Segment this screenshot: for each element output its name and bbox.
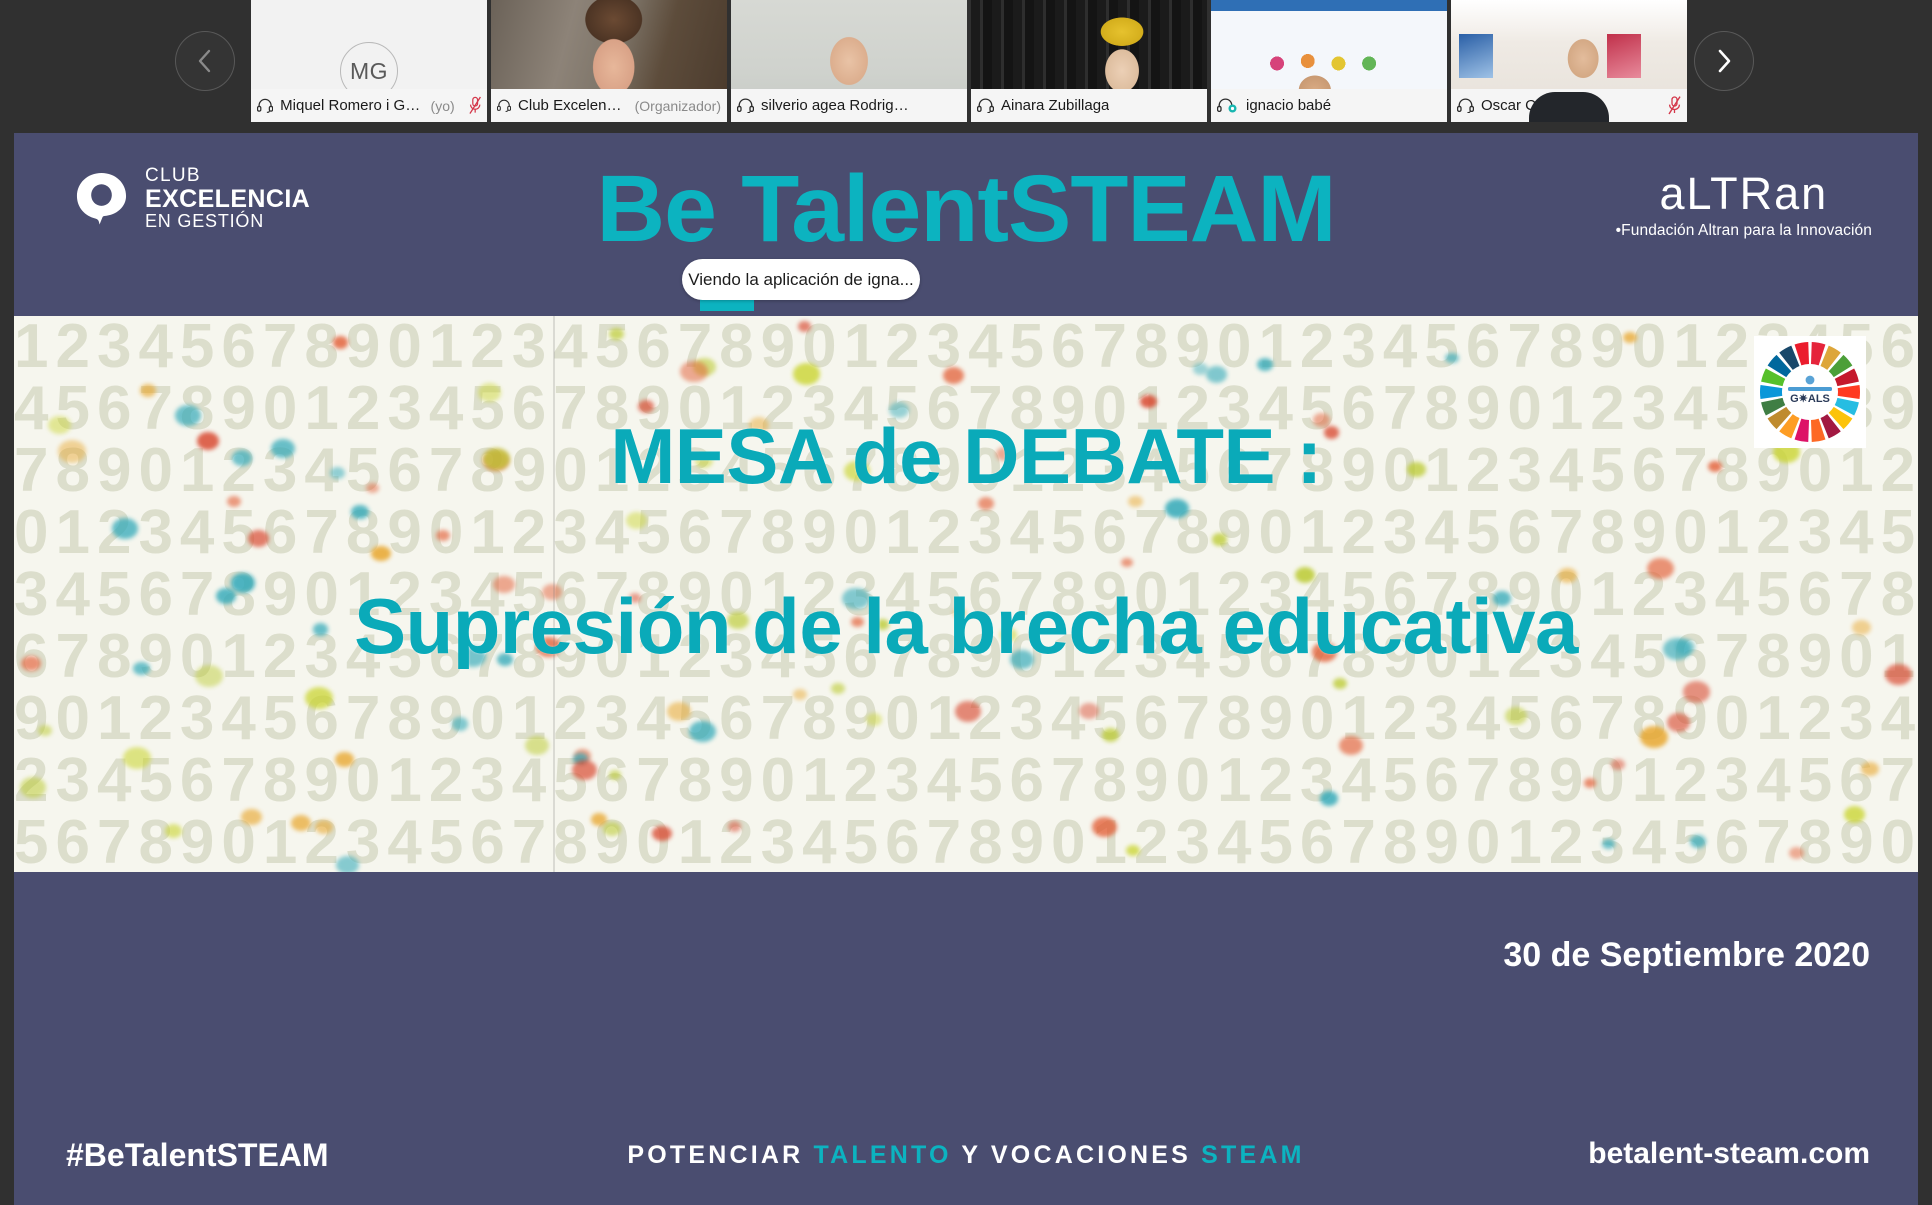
participant-name: silverio agea Rodriguez [761, 97, 911, 114]
decorative-blob [305, 687, 333, 709]
decorative-blob [1584, 778, 1596, 788]
filmstrip-prev-button[interactable] [175, 31, 235, 91]
participant-role: (Organizador) [635, 98, 721, 114]
decorative-blob [452, 717, 468, 730]
participant-tile[interactable]: Ainara Zubillaga [971, 0, 1207, 122]
participant-name: ignacio babé [1246, 97, 1331, 114]
decorative-blob [478, 383, 501, 402]
participant-tile[interactable]: silverio agea Rodriguez [731, 0, 967, 122]
participant-label: ignacio babé [1211, 89, 1447, 122]
decorative-blob [333, 336, 349, 349]
participant-role: (yo) [431, 98, 455, 114]
claim-highlight-1: TALENTO [814, 1141, 952, 1169]
event-date: 30 de Septiembre 2020 [1503, 936, 1870, 975]
chevron-left-icon [195, 47, 215, 75]
decorative-blob [1121, 558, 1133, 568]
claim-part-2: Y VOCACIONES [952, 1141, 1202, 1169]
headset-icon [497, 98, 511, 113]
participant-tiles: MG Miquel Romero i Gra... (yo) [251, 0, 1695, 133]
headset-icon [977, 98, 994, 113]
svg-text:G✷ALS: G✷ALS [1790, 393, 1830, 405]
decorative-blob [626, 512, 647, 529]
decorative-blob [1445, 353, 1459, 364]
video-subject [1529, 92, 1609, 122]
headset-icon [1457, 98, 1474, 113]
decorative-blob [351, 505, 369, 520]
decorative-blob [1339, 736, 1364, 756]
decorative-blob [793, 363, 820, 385]
decorative-blob [680, 361, 707, 383]
decorative-blob [371, 546, 390, 561]
decorative-blob [1683, 681, 1710, 703]
participant-tile[interactable]: ignacio babé [1211, 0, 1447, 122]
slide-body: 1234567890123456789012345678901234567890… [14, 316, 1918, 872]
decorative-blob [1320, 791, 1338, 806]
decorative-blob [667, 702, 691, 721]
participant-tile[interactable]: Oscar Codon [1451, 0, 1687, 122]
decorative-blob [728, 821, 741, 832]
headset-icon [737, 98, 754, 113]
altran-logo: aLTRan •Fundación Altran para la Innovac… [1616, 171, 1872, 240]
decorative-blob [291, 815, 311, 831]
decorative-blob [609, 770, 621, 780]
avatar-initials: MG [350, 58, 388, 85]
mic-muted-icon [1668, 96, 1681, 115]
decorative-blob [1333, 678, 1347, 690]
participant-name: Club Excelencia e... [518, 97, 628, 114]
decorative-blob [955, 701, 981, 722]
decorative-blob [38, 725, 52, 736]
claim-part-1: POTENCIAR [627, 1141, 813, 1169]
slide-heading-primary: MESA de DEBATE : [14, 411, 1918, 502]
decorative-blob [1611, 759, 1625, 770]
decorative-blob [1505, 707, 1527, 725]
decorative-blob [1789, 847, 1804, 859]
claim-highlight-2: STEAM [1201, 1141, 1305, 1169]
decorative-blob [1140, 395, 1157, 408]
decorative-blob [165, 824, 183, 838]
decorative-blob [1126, 845, 1140, 856]
decorative-blob [1640, 726, 1667, 748]
decorative-blob [793, 689, 806, 700]
shared-screen-stage[interactable]: CLUB EXCELENCIA EN GESTIÓN Be TalentSTEA… [14, 133, 1918, 1205]
decorative-blob [572, 760, 597, 780]
slide-footer: 30 de Septiembre 2020 #BeTalentSTEAM POT… [14, 872, 1918, 1205]
headset-icon [1217, 98, 1239, 113]
participant-label: silverio agea Rodriguez [731, 89, 967, 122]
slide-heading-secondary: Supresión de la brecha educativa [14, 581, 1918, 672]
participant-label: Ainara Zubillaga [971, 89, 1207, 122]
decorative-blob [1667, 713, 1691, 732]
footer-row: #BeTalentSTEAM POTENCIAR TALENTO Y VOCAC… [14, 1137, 1918, 1177]
decorative-blob [652, 826, 671, 841]
participant-label: Miquel Romero i Gra... (yo) [251, 89, 487, 122]
slide-header: CLUB EXCELENCIA EN GESTIÓN Be TalentSTEA… [14, 133, 1918, 316]
screen-share-status-pill[interactable]: Viendo la aplicación de igna... [682, 259, 920, 300]
decorative-blob [831, 683, 844, 694]
participant-filmstrip: MG Miquel Romero i Gra... (yo) [0, 0, 1932, 133]
decorative-blob [241, 809, 261, 825]
decorative-blob [1102, 728, 1120, 742]
share-indicator-accent [700, 299, 754, 311]
decorative-blob [1079, 703, 1099, 719]
decorative-blob [1647, 558, 1674, 579]
mic-muted-icon [469, 96, 481, 115]
decorative-blob [866, 713, 883, 726]
decorative-blob [609, 328, 624, 340]
decorative-blob [1602, 839, 1615, 850]
decorative-blob [248, 530, 269, 547]
altran-wordmark: aLTRan [1616, 171, 1872, 216]
participant-name: Miquel Romero i Gra... [280, 97, 423, 114]
decorative-blob [1257, 358, 1274, 371]
headset-icon [257, 98, 273, 113]
decorative-blob [798, 321, 812, 332]
decorative-blob [335, 752, 353, 767]
participant-label: Club Excelencia e... (Organizador) [491, 89, 727, 122]
sdg-wheel-segment [1760, 385, 1782, 399]
participant-name: Ainara Zubillaga [1001, 97, 1109, 114]
decorative-blob [1092, 817, 1118, 837]
decorative-blob [1861, 762, 1879, 776]
altran-tagline: •Fundación Altran para la Innovación [1616, 222, 1872, 240]
event-website-url: betalent-steam.com [1588, 1137, 1870, 1171]
decorative-blob [112, 518, 138, 539]
decorative-blob [315, 820, 333, 834]
chevron-right-icon [1714, 47, 1734, 75]
decorative-blob [525, 736, 549, 755]
sdg-wheel-segment [1838, 385, 1860, 399]
filmstrip-next-button[interactable] [1694, 31, 1754, 91]
participant-tile[interactable]: MG Miquel Romero i Gra... (yo) [251, 0, 487, 122]
decorative-blob [689, 721, 715, 742]
decorative-blob [140, 384, 156, 397]
decorative-blob [943, 367, 964, 384]
decorative-blob [436, 530, 450, 541]
participant-tile[interactable]: Club Excelencia e... (Organizador) [491, 0, 727, 122]
decorative-blob [1844, 806, 1865, 823]
decorative-blob [20, 777, 46, 798]
decorative-blob [1212, 533, 1228, 546]
decorative-blob [603, 822, 621, 837]
meeting-window: MG Miquel Romero i Gra... (yo) [0, 0, 1932, 1205]
decorative-blob [1690, 835, 1706, 848]
decorative-blob [1623, 332, 1637, 343]
decorative-blob [1206, 366, 1227, 383]
decorative-blob [336, 856, 359, 872]
decorative-blob [123, 747, 151, 769]
